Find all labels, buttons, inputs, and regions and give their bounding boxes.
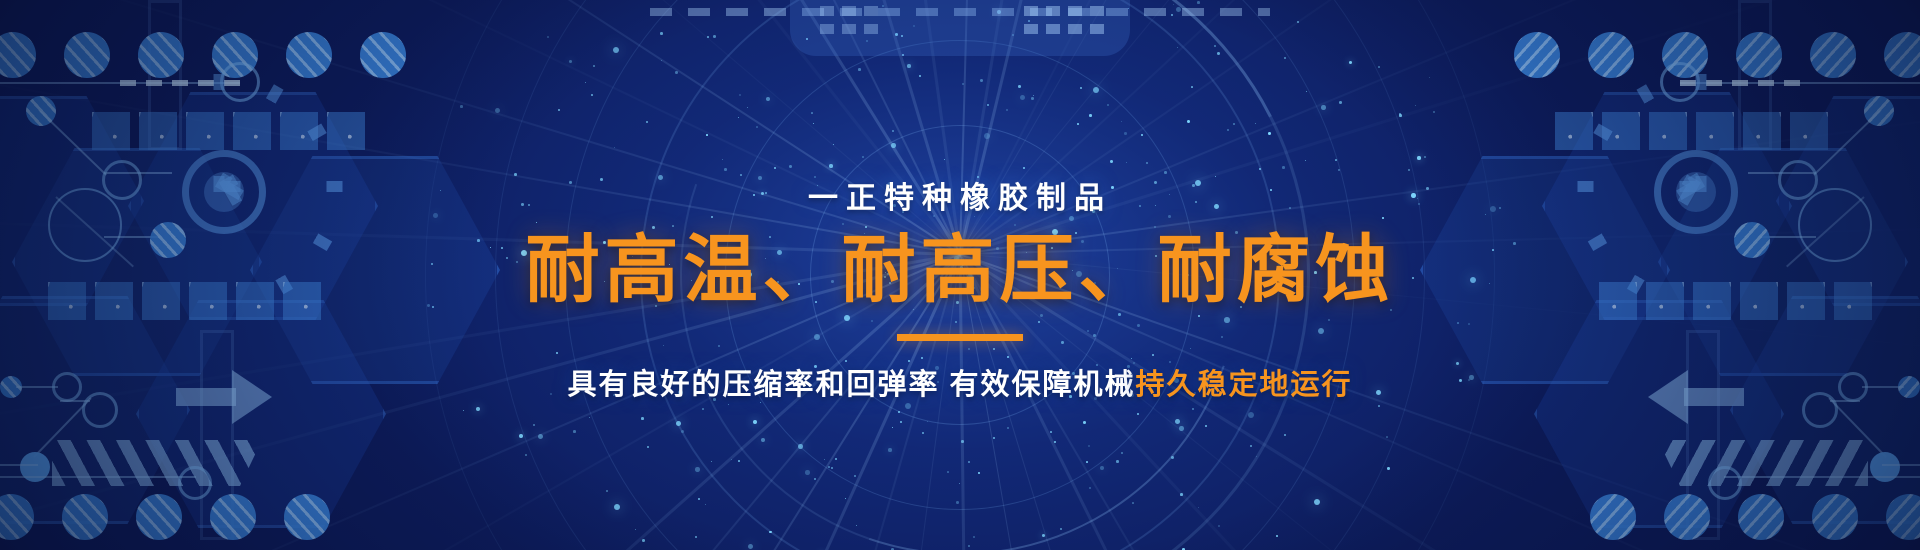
tagline-white-part: 具有良好的压缩率和回弹率 有效保障机械 [567,369,1135,401]
banner-kicker: 一正特种橡胶制品 [808,173,1112,217]
tagline-orange-part: 持久稳定地运行 [1136,369,1353,401]
banner-content: 一正特种橡胶制品 耐高温、耐高压、耐腐蚀 具有良好的压缩率和回弹率 有效保障机械… [0,0,1920,550]
orange-divider [897,334,1023,341]
hero-banner: 一正特种橡胶制品 耐高温、耐高压、耐腐蚀 具有良好的压缩率和回弹率 有效保障机械… [0,0,1920,550]
banner-headline: 耐高温、耐高压、耐腐蚀 [526,229,1395,310]
banner-tagline: 具有良好的压缩率和回弹率 有效保障机械持久稳定地运行 [567,361,1352,403]
